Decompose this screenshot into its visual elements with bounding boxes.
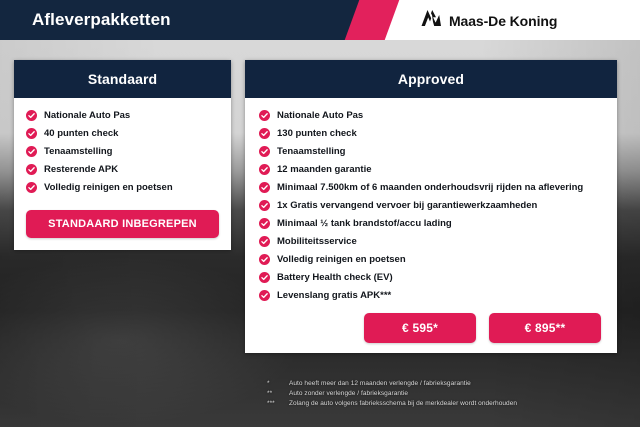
footnote-text: Zolang de auto volgens fabrieksschema bi… [289,399,615,409]
feature-label: Nationale Auto Pas [44,109,130,122]
list-item: 1x Gratis vervangend vervoer bij garanti… [259,199,603,212]
check-circle-icon [259,218,270,229]
list-item: 130 punten check [259,127,603,140]
package-title-standaard: Standaard [14,60,231,98]
price-button-row: € 595* € 895** [259,313,603,343]
check-circle-icon [26,146,37,157]
feature-list-approved: Nationale Auto Pas 130 punten check [259,109,603,302]
package-title-approved: Approved [245,60,617,98]
list-item: Minimaal 7.500km of 6 maanden onderhouds… [259,181,603,194]
header-bar: Afleverpakketten Maas-De Koning [0,0,640,40]
package-card-standaard: Standaard Nationale Auto Pas [14,60,231,250]
check-circle-icon [259,290,270,301]
page-title: Afleverpakketten [32,10,171,30]
list-item: Mobiliteitsservice [259,235,603,248]
check-circle-icon [259,254,270,265]
feature-label: Nationale Auto Pas [277,109,363,122]
check-circle-icon [259,164,270,175]
feature-label: Minimaal ½ tank brandstof/accu lading [277,217,452,230]
package-body-standaard: Nationale Auto Pas 40 punten check [14,98,231,250]
feature-label: 40 punten check [44,127,118,140]
check-circle-icon [26,182,37,193]
footnote-marker: ** [265,389,289,399]
feature-label: Mobiliteitsservice [277,235,357,248]
check-circle-icon [259,110,270,121]
check-circle-icon [26,128,37,139]
check-circle-icon [259,272,270,283]
footnote-2: ** Auto zonder verlengde / fabrieksgaran… [265,389,615,399]
footnote-text: Auto heeft meer dan 12 maanden verlengde… [289,379,615,389]
brand-logo: Maas-De Koning [420,9,557,32]
feature-label: Levenslang gratis APK*** [277,289,391,302]
list-item: 12 maanden garantie [259,163,603,176]
list-item: Volledig reinigen en poetsen [259,253,603,266]
list-item: Volledig reinigen en poetsen [26,181,219,194]
feature-label: Volledig reinigen en poetsen [44,181,173,194]
check-circle-icon [259,128,270,139]
package-body-approved: Nationale Auto Pas 130 punten check [245,98,617,353]
list-item: Minimaal ½ tank brandstof/accu lading [259,217,603,230]
footnote-1: * Auto heeft meer dan 12 maanden verleng… [265,379,615,389]
list-item: Tenaamstelling [26,145,219,158]
feature-label: Tenaamstelling [277,145,345,158]
list-item: Levenslang gratis APK*** [259,289,603,302]
feature-label: Minimaal 7.500km of 6 maanden onderhouds… [277,181,583,194]
feature-list-standaard: Nationale Auto Pas 40 punten check [26,109,219,194]
price-button-595[interactable]: € 595* [364,313,476,343]
check-circle-icon [26,110,37,121]
price-button-895[interactable]: € 895** [489,313,601,343]
check-circle-icon [259,236,270,247]
feature-label: 130 punten check [277,127,357,140]
footnote-marker: *** [265,399,289,409]
list-item: Tenaamstelling [259,145,603,158]
feature-label: 12 maanden garantie [277,163,372,176]
feature-label: Tenaamstelling [44,145,112,158]
check-circle-icon [259,182,270,193]
maas-de-koning-m-logo-icon [420,9,442,32]
check-circle-icon [259,146,270,157]
feature-label: Resterende APK [44,163,118,176]
footnote-3: *** Zolang de auto volgens fabrieksschem… [265,399,615,409]
list-item: 40 punten check [26,127,219,140]
standaard-inbegrepen-button[interactable]: STANDAARD INBEGREPEN [26,210,219,238]
footnote-marker: * [265,379,289,389]
list-item: Resterende APK [26,163,219,176]
list-item: Nationale Auto Pas [259,109,603,122]
brand-name: Maas-De Koning [449,13,557,29]
feature-label: 1x Gratis vervangend vervoer bij garanti… [277,199,537,212]
list-item: Battery Health check (EV) [259,271,603,284]
check-circle-icon [26,164,37,175]
page-root: Afleverpakketten Maas-De Koning Standaar… [0,0,640,427]
footnote-text: Auto zonder verlengde / fabrieksgarantie [289,389,615,399]
feature-label: Volledig reinigen en poetsen [277,253,406,266]
list-item: Nationale Auto Pas [26,109,219,122]
feature-label: Battery Health check (EV) [277,271,393,284]
package-card-approved: Approved Nationale Auto Pas [245,60,617,353]
footnotes-block: * Auto heeft meer dan 12 maanden verleng… [265,379,615,409]
check-circle-icon [259,200,270,211]
